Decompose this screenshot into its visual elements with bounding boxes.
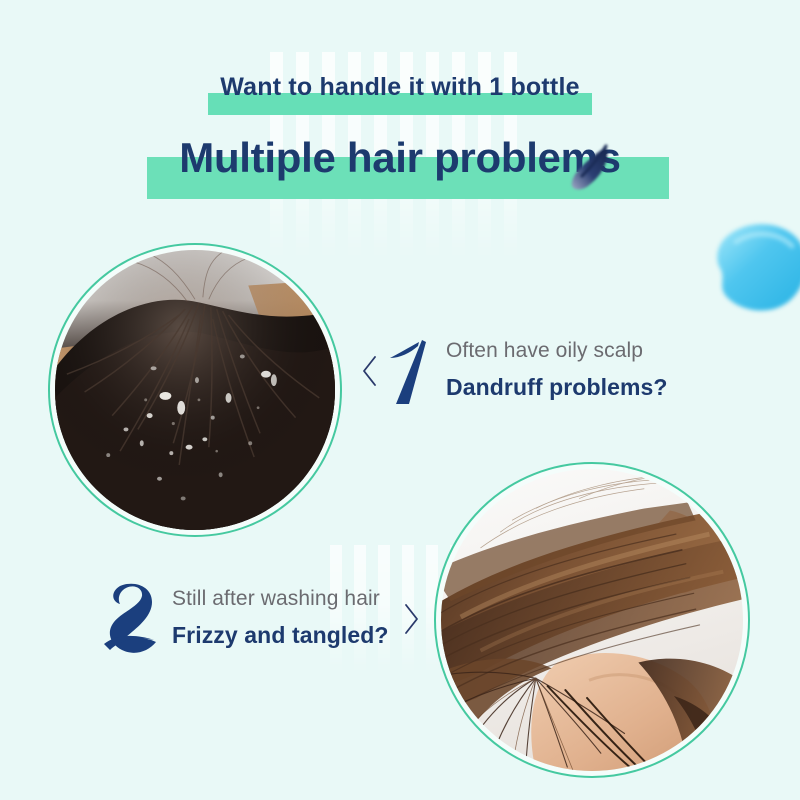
photo-frizzy-hair <box>434 462 750 778</box>
problem-item-1-line-top: Often have oily scalp <box>446 337 700 365</box>
numeral-1-icon <box>386 336 438 408</box>
numeral-2-icon <box>100 580 164 658</box>
problem-item-1-row: Often have oily scalp Dandruff problems? <box>360 332 700 408</box>
problem-item-1-texts: Often have oily scalp Dandruff problems? <box>444 337 700 402</box>
promo-poster: Want to handle it with 1 bottle Multiple… <box>0 0 800 800</box>
photo-oily-scalp-image <box>55 250 335 530</box>
photo-frizzy-hair-image <box>441 469 743 771</box>
problem-item-2: Still after washing hair Frizzy and tang… <box>100 578 420 658</box>
headline-line-2-wrap: Multiple hair problems <box>159 131 640 191</box>
headline-line-2: Multiple hair problems <box>159 131 640 191</box>
problem-item-2-line-bottom: Frizzy and tangled? <box>172 620 389 651</box>
chevron-right-icon <box>401 602 421 636</box>
headline-block: Want to handle it with 1 bottle Multiple… <box>0 70 800 191</box>
problem-item-2-texts: Still after washing hair Frizzy and tang… <box>172 585 389 650</box>
problem-item-2-line-top: Still after washing hair <box>172 585 389 613</box>
blue-petal-blob-icon <box>700 212 800 324</box>
headline-line-1-text: Want to handle it with 1 bottle <box>220 73 579 101</box>
photo-oily-scalp <box>48 243 342 537</box>
problem-item-1-line-bottom: Dandruff problems? <box>446 372 700 403</box>
problem-item-2-row: Still after washing hair Frizzy and tang… <box>100 578 420 658</box>
problem-item-1: Often have oily scalp Dandruff problems? <box>360 332 700 408</box>
headline-line-1: Want to handle it with 1 bottle <box>198 70 601 109</box>
chevron-left-icon <box>360 354 380 388</box>
headline-line-2-text: Multiple hair problems <box>179 134 620 181</box>
